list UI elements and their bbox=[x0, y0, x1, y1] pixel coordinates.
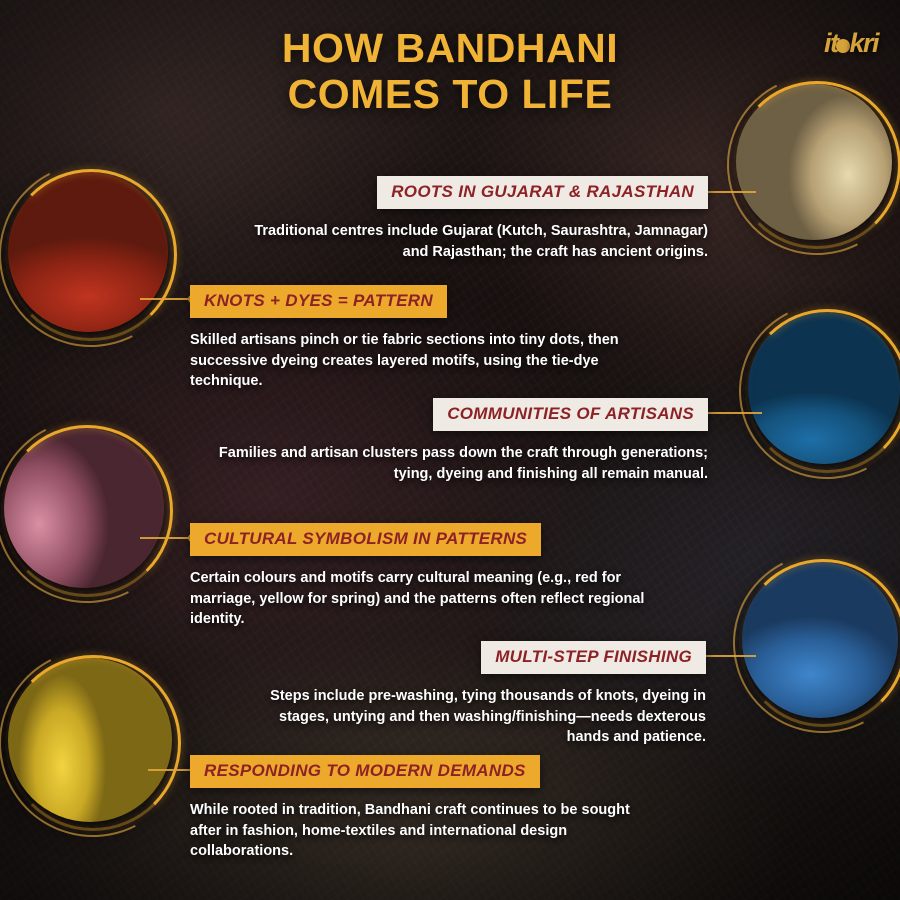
section-cultural-symbolism: CULTURAL SYMBOLISM IN PATTERNS Certain c… bbox=[190, 523, 660, 630]
section-body-cultural-symbolism: Certain colours and motifs carry cultura… bbox=[190, 568, 660, 630]
section-communities: COMMUNITIES OF ARTISANS Families and art… bbox=[200, 398, 708, 484]
section-body-knots-dyes: Skilled artisans pinch or tie fabric sec… bbox=[190, 330, 670, 392]
connector-knots bbox=[140, 298, 192, 300]
title-line-2: COMES TO LIFE bbox=[0, 72, 900, 118]
section-badge-multi-step-finishing[interactable]: MULTI-STEP FINISHING bbox=[481, 641, 706, 674]
section-badge-communities[interactable]: COMMUNITIES OF ARTISANS bbox=[433, 398, 708, 431]
connector-cultural bbox=[140, 537, 192, 539]
section-body-communities: Families and artisan clusters pass down … bbox=[200, 443, 708, 484]
infographic-poster: HOW BANDHANI COMES TO LIFE itkri RO bbox=[0, 0, 900, 900]
photo-dyer-blue-vat bbox=[748, 312, 900, 464]
photo-tying-red-fabric bbox=[8, 172, 168, 332]
section-knots-dyes: KNOTS + DYES = PATTERN Skilled artisans … bbox=[190, 285, 670, 392]
photo-women-knotted-cloth bbox=[4, 428, 164, 588]
section-badge-roots[interactable]: ROOTS IN GUJARAT & RAJASTHAN bbox=[377, 176, 708, 209]
title-line-1: HOW BANDHANI bbox=[282, 25, 618, 71]
photo-blue-dye-bath bbox=[742, 562, 898, 718]
logo-text-after: kri bbox=[849, 28, 878, 58]
section-multi-step-finishing: MULTI-STEP FINISHING Steps include pre-w… bbox=[250, 641, 706, 748]
connector-communities bbox=[700, 412, 762, 414]
logo-text-before: it bbox=[824, 28, 838, 58]
section-badge-modern-demands[interactable]: RESPONDING TO MODERN DEMANDS bbox=[190, 755, 540, 788]
brand-logo[interactable]: itkri bbox=[824, 28, 878, 59]
section-roots: ROOTS IN GUJARAT & RAJASTHAN Traditional… bbox=[230, 176, 708, 262]
section-badge-knots-dyes[interactable]: KNOTS + DYES = PATTERN bbox=[190, 285, 447, 318]
section-body-multi-step-finishing: Steps include pre-washing, tying thousan… bbox=[250, 686, 706, 748]
connector-modern bbox=[148, 769, 194, 771]
section-body-modern-demands: While rooted in tradition, Bandhani craf… bbox=[190, 800, 660, 862]
section-modern-demands: RESPONDING TO MODERN DEMANDS While roote… bbox=[190, 755, 660, 862]
page-title: HOW BANDHANI COMES TO LIFE bbox=[0, 26, 900, 118]
photo-yellow-dip bbox=[8, 658, 172, 822]
section-badge-cultural-symbolism[interactable]: CULTURAL SYMBOLISM IN PATTERNS bbox=[190, 523, 541, 556]
connector-finishing bbox=[698, 655, 756, 657]
section-body-roots: Traditional centres include Gujarat (Kut… bbox=[230, 221, 708, 262]
